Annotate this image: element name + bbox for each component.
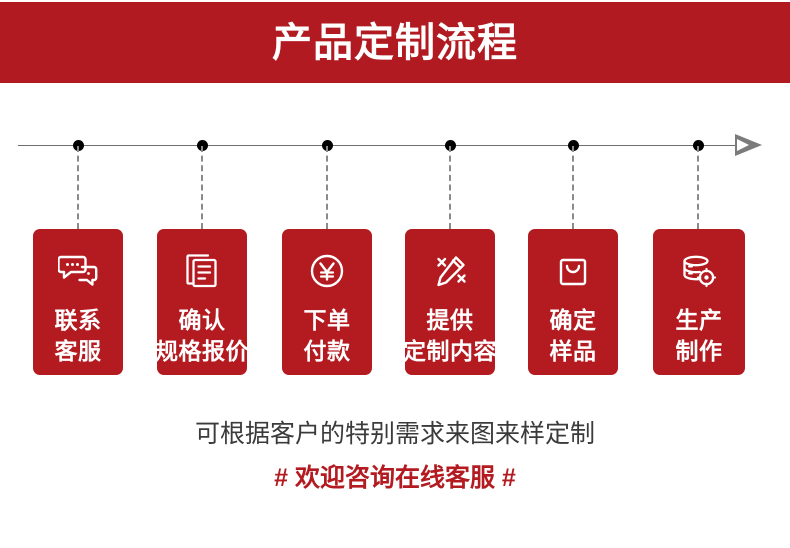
pen-design-icon (430, 251, 470, 291)
timeline-connector (77, 146, 79, 229)
timeline-connector (326, 146, 328, 229)
header-banner: 产品定制流程 (0, 2, 790, 83)
step-card-provide-content[interactable]: 提供 定制内容 (405, 229, 495, 375)
step-card-place-order-pay[interactable]: 下单 付款 (282, 229, 372, 375)
step-label-line2: 制作 (676, 338, 723, 364)
step-label-line1: 确定 (550, 307, 597, 333)
shopping-bag-smile-icon (553, 251, 593, 291)
step-label-line1: 下单 (304, 307, 351, 333)
customization-process-infographic: 产品定制流程 (0, 0, 790, 548)
step-label-line1: 生产 (676, 307, 723, 333)
yuan-circle-icon (307, 251, 347, 291)
step-label-line1: 联系 (55, 307, 102, 333)
timeline-connector (572, 146, 574, 229)
step-label-line2: 规格报价 (157, 338, 247, 364)
timeline-connector (201, 146, 203, 229)
step-label-line2: 客服 (55, 338, 102, 364)
footer-line-consult-service: # 欢迎咨询在线客服 # (0, 462, 790, 496)
step-card-label: 确认 规格报价 (157, 305, 247, 366)
timeline-axis-line (18, 145, 740, 146)
timeline-connector (697, 146, 699, 229)
step-card-label: 生产 制作 (676, 305, 723, 366)
document-list-icon (182, 251, 222, 291)
step-cards: 联系 客服 确认 规格报价 (0, 229, 790, 375)
footer-note: 可根据客户的特别需求来图来样定制 # 欢迎咨询在线客服 # (0, 418, 790, 496)
chat-bubbles-icon (58, 251, 98, 291)
page-title: 产品定制流程 (272, 23, 518, 63)
step-card-confirm-quote[interactable]: 确认 规格报价 (157, 229, 247, 375)
step-card-label: 联系 客服 (55, 305, 102, 366)
step-label-line2: 样品 (550, 338, 597, 364)
timeline (0, 120, 790, 170)
timeline-connector (449, 146, 451, 229)
step-card-label: 下单 付款 (304, 305, 351, 366)
step-label-line2: 定制内容 (405, 338, 495, 364)
step-card-label: 确定 样品 (550, 305, 597, 366)
step-card-confirm-sample[interactable]: 确定 样品 (528, 229, 618, 375)
step-card-contact-service[interactable]: 联系 客服 (33, 229, 123, 375)
step-card-label: 提供 定制内容 (405, 305, 495, 366)
step-card-production[interactable]: 生产 制作 (653, 229, 745, 375)
arrow-right-icon (735, 134, 762, 156)
step-label-line1: 确认 (179, 307, 226, 333)
database-gear-icon (679, 251, 719, 291)
step-label-line1: 提供 (427, 307, 474, 333)
step-label-line2: 付款 (304, 338, 351, 364)
footer-line-custom-order: 可根据客户的特别需求来图来样定制 (0, 418, 790, 452)
